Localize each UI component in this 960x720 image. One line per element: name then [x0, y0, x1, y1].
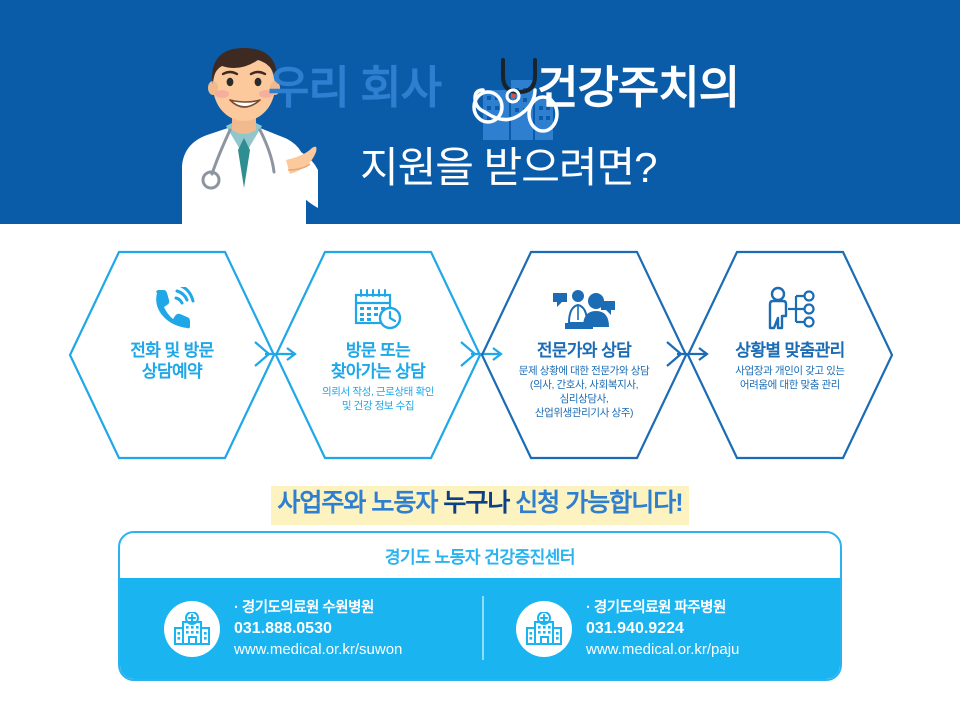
- contact-paju[interactable]: · 경기도의료원 파주병원 031.940.9224 www.medical.o…: [488, 598, 840, 660]
- phone-call-icon: [149, 284, 195, 334]
- contact-text-suwon: · 경기도의료원 수원병원 031.888.0530 www.medical.o…: [234, 598, 402, 660]
- tagline-emphasis: 누구나: [443, 489, 509, 517]
- contact-suwon[interactable]: · 경기도의료원 수원병원 031.888.0530 www.medical.o…: [120, 598, 488, 660]
- card-heading-text: 경기도 노동자 건강증진센터: [385, 543, 575, 568]
- step-hexagon-2[interactable]: 방문 또는 찾아가는 상담 의뢰서 작성, 근로상태 확인 및 건강 정보 수집: [272, 248, 484, 462]
- step-hexagon-3[interactable]: 전문가와 상담 문제 상황에 대한 전문가와 상담 (의사, 간호사, 사회복지…: [478, 248, 690, 462]
- person-network-icon: [762, 284, 818, 334]
- step-sub-4: 사업장과 개인이 갖고 있는 어려움에 대한 맞춤 관리: [735, 364, 844, 392]
- infographic-page: 우리 회사건강주치의 지원을 받으려면? 전화 및 방문 상담: [0, 0, 960, 720]
- step-title-4: 상황별 맞춤관리: [735, 340, 844, 361]
- tagline-before: 사업주와 노동자: [277, 489, 443, 517]
- process-steps: 전화 및 방문 상담예약: [0, 248, 960, 468]
- header-titles: 우리 회사건강주치의 지원을 받으려면?: [268, 58, 808, 208]
- step-sub-2: 의뢰서 작성, 근로상태 확인 및 건강 정보 수집: [322, 385, 434, 413]
- tagline-highlight: 사업주와 노동자 누구나 신청 가능합니다!: [271, 486, 688, 525]
- contact-name-paju: · 경기도의료원 파주병원: [586, 598, 739, 618]
- contact-url-suwon[interactable]: www.medical.or.kr/suwon: [234, 639, 402, 660]
- step-title-1: 전화 및 방문 상담예약: [130, 340, 213, 382]
- card-heading: 경기도 노동자 건강증진센터: [120, 533, 840, 578]
- header-banner: 우리 회사건강주치의 지원을 받으려면?: [0, 0, 960, 224]
- tagline: 사업주와 노동자 누구나 신청 가능합니다!: [0, 486, 960, 525]
- contact-text-paju: · 경기도의료원 파주병원 031.940.9224 www.medical.o…: [586, 598, 739, 660]
- contact-name-suwon: · 경기도의료원 수원병원: [234, 598, 402, 618]
- tagline-after: 신청 가능합니다!: [509, 489, 682, 517]
- step-title-2: 방문 또는 찾아가는 상담: [331, 340, 425, 382]
- center-contact-card: 경기도 노동자 건강증진센터: [118, 531, 842, 681]
- calendar-clock-icon: [352, 284, 404, 334]
- contact-phone-suwon[interactable]: 031.888.0530: [234, 618, 402, 639]
- card-contacts: · 경기도의료원 수원병원 031.888.0530 www.medical.o…: [120, 578, 840, 679]
- step-hexagon-4[interactable]: 상황별 맞춤관리 사업장과 개인이 갖고 있는 어려움에 대한 맞춤 관리: [684, 248, 896, 462]
- consultation-people-icon: [551, 284, 617, 334]
- contact-divider: [482, 596, 484, 660]
- step-title-3: 전문가와 상담: [537, 340, 631, 361]
- header-subtitle: 지원을 받으려면?: [360, 140, 657, 196]
- contact-phone-paju[interactable]: 031.940.9224: [586, 618, 739, 639]
- contact-url-paju[interactable]: www.medical.or.kr/paju: [586, 639, 739, 660]
- header-title-part1: 우리 회사: [268, 58, 441, 118]
- hospital-building-icon: [516, 601, 572, 657]
- step-sub-3: 문제 상황에 대한 전문가와 상담 (의사, 간호사, 사회복지사, 심리상담사…: [519, 364, 649, 420]
- hospital-building-icon: [164, 601, 220, 657]
- header-title-line1: 우리 회사건강주치의: [268, 58, 808, 120]
- header-title-part2: 건강주치의: [537, 58, 739, 118]
- step-hexagon-1[interactable]: 전화 및 방문 상담예약: [66, 248, 278, 462]
